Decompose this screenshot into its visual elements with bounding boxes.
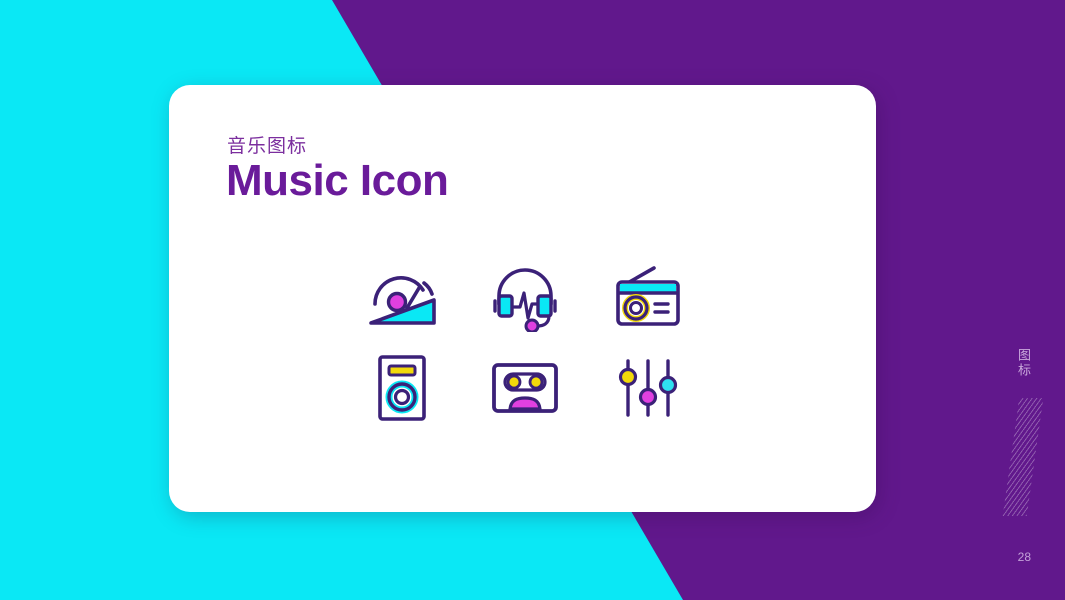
icon-grid: [340, 250, 710, 434]
cassette-icon[interactable]: [473, 344, 577, 432]
turntable-icon[interactable]: [350, 252, 454, 340]
page-number: 28: [1018, 550, 1031, 564]
slide-canvas: 音乐图标 Music Icon: [0, 0, 1065, 600]
side-rail-label: 图标: [1012, 348, 1030, 378]
speaker-icon[interactable]: [350, 344, 454, 432]
equalizer-icon[interactable]: [596, 344, 700, 432]
page-title: Music Icon: [226, 156, 448, 206]
page-subtitle: 音乐图标: [227, 131, 307, 158]
headset-icon[interactable]: [473, 252, 577, 340]
radio-icon[interactable]: [596, 252, 700, 340]
